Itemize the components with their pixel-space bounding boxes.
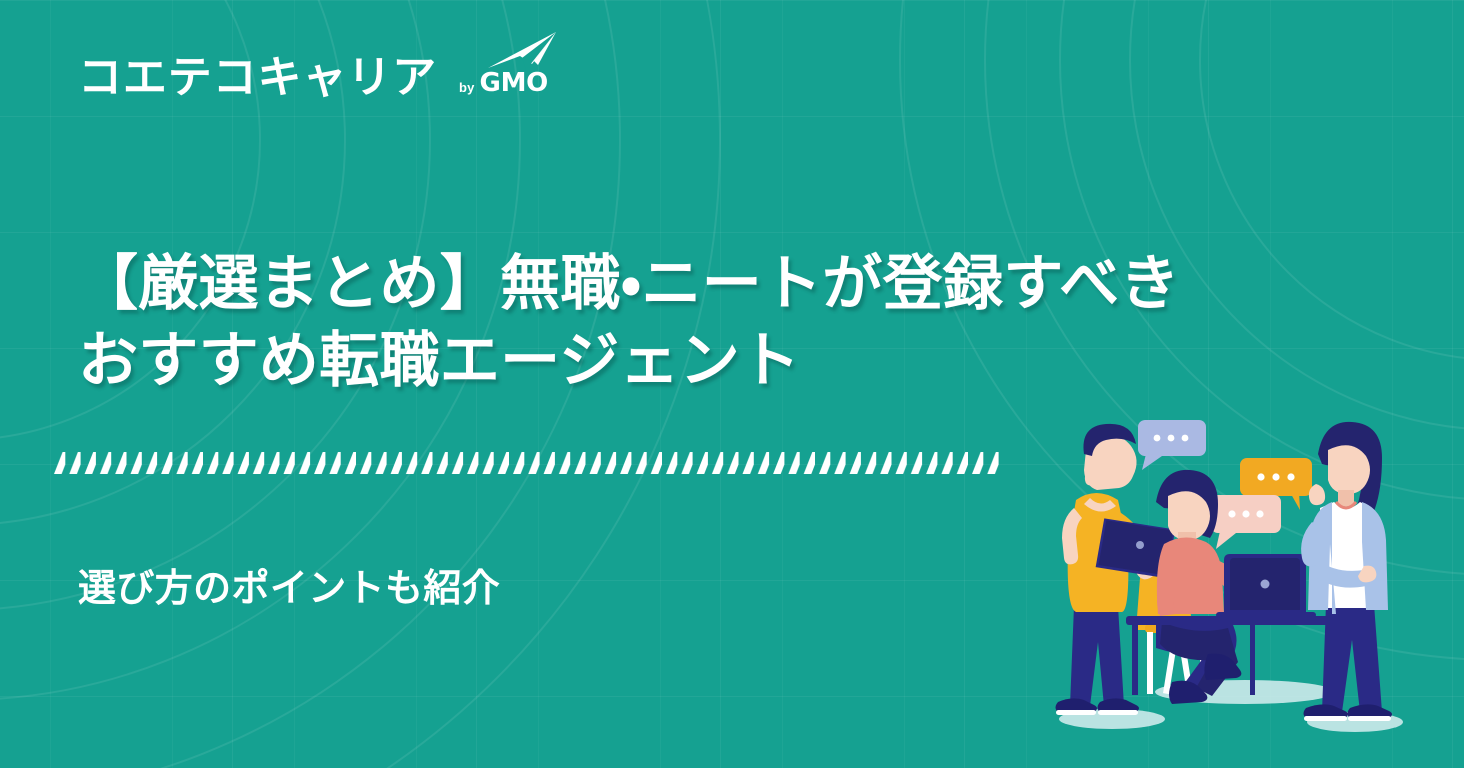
page-title-line-2: おすすめ転職エージェント xyxy=(78,326,800,396)
laptop-open xyxy=(1216,554,1316,618)
team-discussion-illustration xyxy=(1050,392,1450,762)
page-title: 【厳選まとめ】無職・ニートが登録すべき おすすめ転職エージェント xyxy=(78,246,1348,400)
logo-by-gmo: by GMO xyxy=(459,70,548,96)
bubble-periwinkle xyxy=(1138,420,1206,470)
site-logo[interactable]: コエテコキャリア by GMO xyxy=(78,56,548,100)
paper-plane-arrow-icon xyxy=(486,30,560,72)
og-image-canvas: コエテコキャリア by GMO 【厳選まとめ】無職・ニートが登録すべき おすすめ… xyxy=(0,0,1464,768)
page-title-line-1: 【厳選まとめ】無職・ニートが登録すべき xyxy=(78,249,1180,319)
logo-gmo-text: GMO xyxy=(479,70,548,96)
bubble-pink xyxy=(1211,495,1281,549)
figure-woman-blue-blazer xyxy=(1301,422,1392,721)
page-subtitle: 選び方のポイントも紹介 xyxy=(78,566,500,612)
logo-by-label: by xyxy=(459,81,474,94)
logo-wordmark: コエテコキャリア xyxy=(78,56,437,100)
diagonal-stripe-divider xyxy=(50,452,1000,474)
